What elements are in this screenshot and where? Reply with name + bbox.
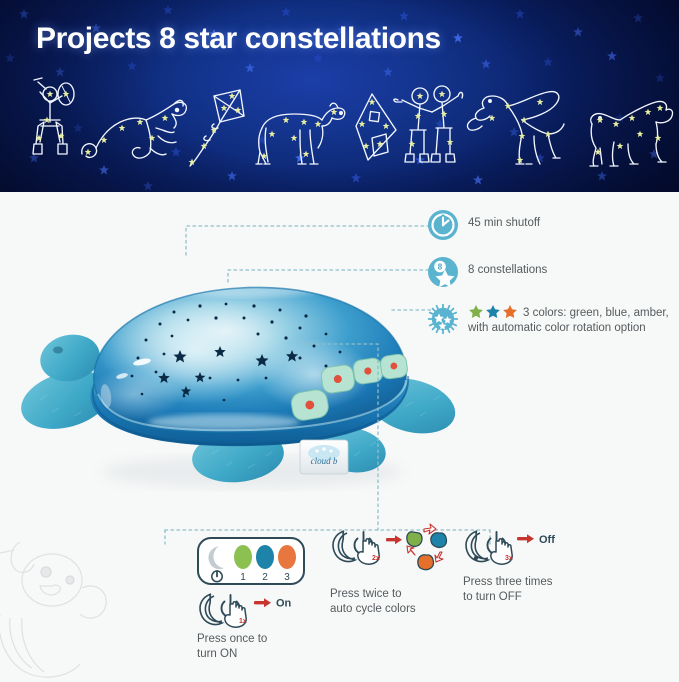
house-constellation bbox=[356, 94, 396, 160]
constellation-row bbox=[0, 72, 679, 184]
color-cycle-blobs bbox=[407, 524, 447, 570]
control-label-2: 2 bbox=[262, 572, 268, 583]
header-banner: Projects 8 star constellations bbox=[0, 0, 679, 192]
press-count-2x: 2x bbox=[372, 555, 380, 562]
bear-constellation bbox=[590, 101, 673, 166]
press-twice-caption: Press twice to auto cycle colors bbox=[330, 587, 450, 617]
press-three-times-glyph: 3x Off bbox=[463, 525, 578, 571]
result-label-off: Off bbox=[539, 534, 555, 546]
press-once-glyph: 1x On bbox=[197, 590, 307, 630]
dog-constellation bbox=[256, 103, 345, 164]
control-label-3: 3 bbox=[284, 572, 290, 583]
result-label-on: On bbox=[276, 598, 292, 610]
instructions-panel: 1 2 3 bbox=[0, 192, 679, 679]
twins-constellation bbox=[394, 86, 463, 162]
press-twice-glyph: 2x bbox=[330, 519, 455, 583]
press-count-3x: 3x bbox=[505, 555, 513, 562]
pegasus-constellation bbox=[467, 92, 564, 164]
press-three-times-instruction: 3x Off Press three times to turn OFF bbox=[463, 537, 583, 605]
press-three-times-caption: Press three times to turn OFF bbox=[463, 575, 583, 605]
page-title: Projects 8 star constellations bbox=[36, 22, 441, 56]
turtle-control-panel[interactable]: 1 2 3 bbox=[197, 537, 305, 585]
press-once-instruction: 1 2 3 bbox=[197, 537, 322, 662]
press-once-caption: Press once to turn ON bbox=[197, 632, 322, 662]
press-twice-instruction: 2x Press twice to auto cycle colors bbox=[330, 537, 450, 617]
warrior-constellation bbox=[33, 78, 74, 154]
dragon-constellation bbox=[82, 100, 187, 158]
control-label-1: 1 bbox=[240, 572, 246, 583]
kite-constellation bbox=[189, 90, 244, 166]
press-count-1x: 1x bbox=[239, 618, 247, 625]
